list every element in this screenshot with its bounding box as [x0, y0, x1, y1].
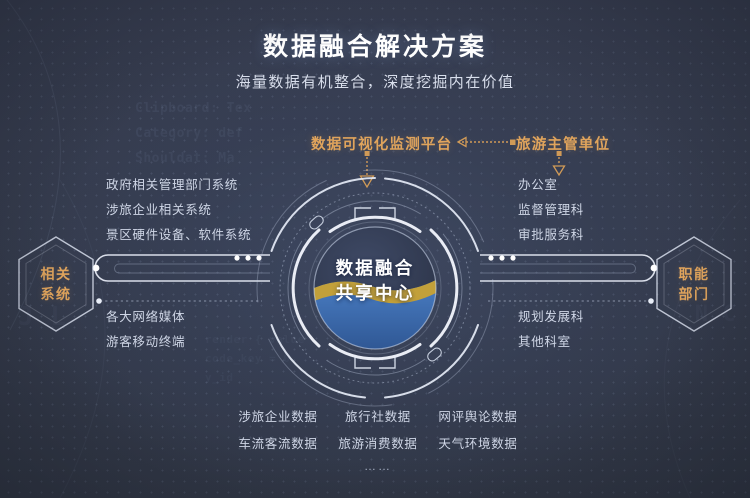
watermark-code-left: Clipboard: Tex Category: def Shouldat: M… — [135, 96, 252, 171]
list-item: 景区硬件设备、软件系统 — [106, 223, 251, 248]
list-item: 涉旅企业相关系统 — [106, 198, 251, 223]
hexagon-related-systems[interactable]: 相关 系统 — [14, 234, 98, 334]
data-cell: 车流客流数据 — [228, 431, 328, 458]
data-cell: 旅游消费数据 — [328, 431, 428, 458]
list-item: 其他科室 — [518, 330, 584, 355]
list-right-bottom: 规划发展科 其他科室 — [518, 305, 584, 355]
central-hub[interactable]: 数据融合 共享中心 — [247, 160, 503, 416]
list-item: 政府相关管理部门系统 — [106, 173, 251, 198]
list-item: 游客移动终端 — [106, 330, 185, 355]
hexagon-left-line2: 系统 — [41, 284, 72, 304]
list-item: 审批服务科 — [518, 223, 584, 248]
hexagon-left-line1: 相关 — [41, 264, 72, 284]
data-cell: 天气环境数据 — [428, 431, 528, 458]
arrow-left-icon — [446, 134, 520, 150]
hexagon-functional-departments[interactable]: 职能 部门 — [652, 234, 736, 334]
hexagon-left-label: 相关 系统 — [14, 234, 98, 334]
list-left-top: 政府相关管理部门系统 涉旅企业相关系统 景区硬件设备、软件系统 — [106, 173, 251, 248]
hexagon-right-label: 职能 部门 — [652, 234, 736, 334]
page-title: 数据融合解决方案 — [0, 27, 750, 63]
list-item: 监督管理科 — [518, 198, 584, 223]
list-item: 规划发展科 — [518, 305, 584, 330]
page-subtitle: 海量数据有机整合，深度挖掘内在价值 — [0, 71, 750, 92]
hub-rings-graphic — [247, 160, 503, 416]
hexagon-right-line2: 部门 — [679, 284, 710, 304]
hexagon-right-line1: 职能 — [679, 264, 710, 284]
table-row: 车流客流数据 旅游消费数据 天气环境数据 — [228, 431, 528, 458]
label-visualization-platform: 数据可视化监测平台 — [311, 133, 452, 154]
list-item: 各大网络媒体 — [106, 305, 185, 330]
infographic-canvas: Clipboard: Tex Category: def Shouldat: M… — [0, 0, 750, 498]
list-right-top: 办公室 监督管理科 审批服务科 — [518, 173, 584, 248]
ellipsis-label: …… — [228, 459, 528, 473]
list-item: 办公室 — [518, 173, 584, 198]
list-left-bottom: 各大网络媒体 游客移动终端 — [106, 305, 185, 355]
